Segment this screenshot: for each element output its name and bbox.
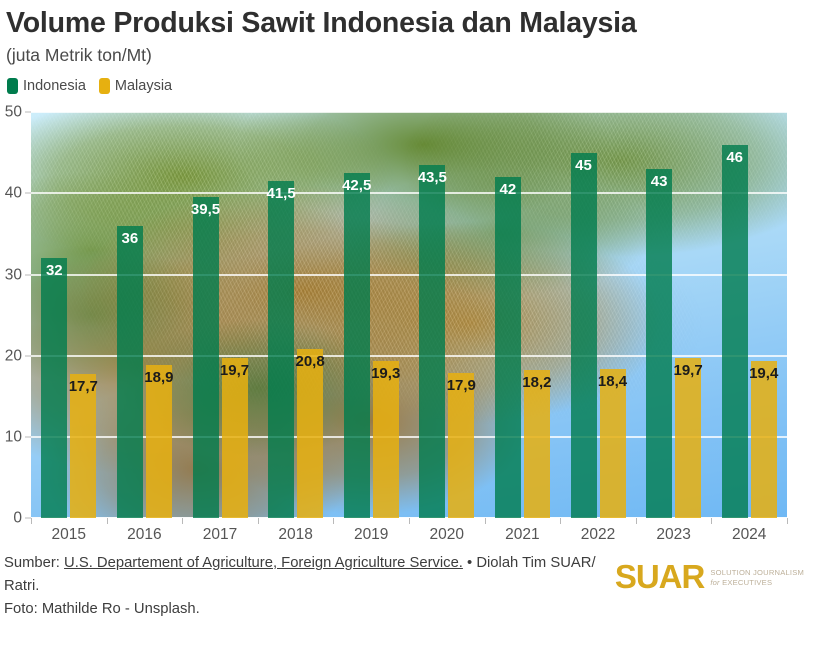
x-axis-tick-label-2023: 2023 [656,527,690,543]
x-axis-tick-label-2016: 2016 [127,527,161,543]
bar-value-label: 18,2 [522,375,551,390]
bar-value-label: 19,4 [749,366,778,381]
bar-malaysia-2022[interactable]: 18,4 [600,369,626,518]
bar-indonesia-2017[interactable]: 39,5 [193,197,219,518]
x-axis-tick-mark [409,518,410,524]
suar-wordmark: SUAR [615,560,705,593]
chart-plot-wrapper: 3217,73618,939,519,741,520,842,519,343,5… [0,103,814,528]
y-axis-tick-label: 40 [0,186,22,202]
suar-tagline: SOLUTION JOURNALISM for EXECUTIVES [710,565,804,587]
bar-malaysia-2021[interactable]: 18,2 [524,370,550,518]
bar-value-label: 19,7 [673,363,702,378]
bar-value-label: 18,4 [598,374,627,389]
y-axis-tick-mark [25,274,31,275]
bar-value-label: 42,5 [342,178,371,193]
y-axis-tick-label: 50 [0,104,22,120]
x-axis-tick-mark [560,518,561,524]
bar-value-label: 45 [575,158,592,173]
bar-value-label: 41,5 [266,186,295,201]
source-note: Sumber: U.S. Departement of Agriculture,… [4,552,632,597]
bar-value-label: 17,7 [69,379,98,394]
x-axis-tick-mark [787,518,788,524]
x-axis-tick-mark [107,518,108,524]
bar-malaysia-2019[interactable]: 19,3 [373,361,399,518]
bar-malaysia-2016[interactable]: 18,9 [146,365,172,518]
bar-value-label: 19,7 [220,363,249,378]
bar-value-label: 46 [726,150,743,165]
x-axis-tick-label-2022: 2022 [581,527,615,543]
legend-label-malaysia: Malaysia [115,79,172,94]
bar-malaysia-2023[interactable]: 19,7 [675,358,701,518]
bar-indonesia-2020[interactable]: 43,5 [419,165,445,518]
bar-value-label: 36 [122,231,139,246]
bar-value-label: 20,8 [295,354,324,369]
bar-value-label: 32 [46,263,63,278]
suar-logo: SUAR SOLUTION JOURNALISM for EXECUTIVES [615,560,804,593]
bar-indonesia-2022[interactable]: 45 [571,153,597,518]
legend-swatch-indonesia [7,78,18,94]
bar-malaysia-2015[interactable]: 17,7 [70,374,96,518]
bar-indonesia-2016[interactable]: 36 [117,226,143,518]
suar-tagline-line2: EXECUTIVES [722,578,772,587]
bar-malaysia-2020[interactable]: 17,9 [448,373,474,518]
photo-credit: Foto: Mathilde Ro - Unsplash. [4,598,814,620]
source-link[interactable]: U.S. Departement of Agriculture, Foreign… [64,555,463,571]
bar-indonesia-2019[interactable]: 42,5 [344,173,370,518]
x-axis-tick-label-2017: 2017 [203,527,237,543]
x-axis-tick-mark [31,518,32,524]
y-axis-tick-mark [25,112,31,113]
bar-malaysia-2017[interactable]: 19,7 [222,358,248,518]
y-axis-tick-mark [25,355,31,356]
legend-label-indonesia: Indonesia [23,79,86,94]
legend-item-malaysia[interactable]: Malaysia [99,78,172,94]
bar-value-label: 39,5 [191,202,220,217]
x-axis-tick-mark [711,518,712,524]
bar-value-label: 17,9 [447,378,476,393]
bar-malaysia-2018[interactable]: 20,8 [297,349,323,518]
x-axis-tick-label-2018: 2018 [278,527,312,543]
x-axis-tick-mark [485,518,486,524]
suar-tagline-em: for [710,578,719,587]
x-axis-tick-label-2024: 2024 [732,527,766,543]
y-axis-tick-label: 10 [0,429,22,445]
x-axis-tick-mark [636,518,637,524]
bar-indonesia-2021[interactable]: 42 [495,177,521,518]
y-axis-tick-mark [25,193,31,194]
y-axis-tick-label: 20 [0,348,22,364]
suar-tagline-line1: SOLUTION JOURNALISM [710,568,804,577]
y-axis-tick-mark [25,436,31,437]
y-axis-tick-label: 0 [0,510,22,526]
x-axis-tick-mark [182,518,183,524]
source-prefix: Sumber: [4,555,64,571]
bar-indonesia-2023[interactable]: 43 [646,169,672,518]
legend-swatch-malaysia [99,78,110,94]
bar-indonesia-2024[interactable]: 46 [722,145,748,519]
bar-value-label: 43 [651,174,668,189]
legend-item-indonesia[interactable]: Indonesia [7,78,86,94]
x-axis-tick-mark [258,518,259,524]
bar-indonesia-2018[interactable]: 41,5 [268,181,294,518]
x-axis-tick-label-2015: 2015 [52,527,86,543]
x-axis: 2015201620172018201920202021202220232024 [31,518,787,528]
x-axis-tick-label-2020: 2020 [430,527,464,543]
bar-malaysia-2024[interactable]: 19,4 [751,361,777,519]
y-axis-tick-mark [25,518,31,519]
bar-value-label: 43,5 [418,170,447,185]
bar-value-label: 19,3 [371,366,400,381]
x-axis-tick-label-2019: 2019 [354,527,388,543]
bar-value-label: 42 [500,182,517,197]
plot-area: 3217,73618,939,519,741,520,842,519,343,5… [31,112,787,518]
chart-subtitle: (juta Metrik ton/Mt) [6,46,814,65]
x-axis-tick-label-2021: 2021 [505,527,539,543]
chart-footer: Sumber: U.S. Departement of Agriculture,… [0,552,814,632]
page-title: Volume Produksi Sawit Indonesia dan Mala… [6,8,814,40]
bar-indonesia-2015[interactable]: 32 [41,258,67,518]
x-axis-tick-mark [333,518,334,524]
chart-header: Volume Produksi Sawit Indonesia dan Mala… [0,0,814,94]
bar-value-label: 18,9 [144,370,173,385]
bars-layer: 3217,73618,939,519,741,520,842,519,343,5… [31,112,787,518]
y-axis-tick-label: 30 [0,267,22,283]
chart-legend: Indonesia Malaysia [7,78,814,94]
